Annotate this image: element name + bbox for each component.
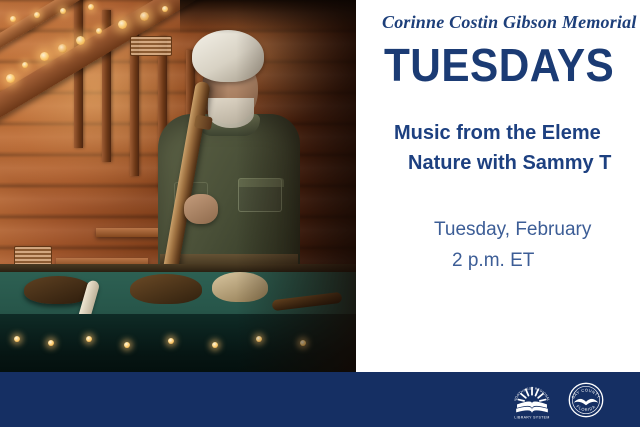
event-time-line-2: 2 p.m. ET xyxy=(452,245,640,276)
logo-group: NORTHWEST REGIONAL LIBRARY SYSTEM xyxy=(510,378,608,422)
svg-text:BAY COUNTY: BAY COUNTY xyxy=(570,387,601,399)
svg-text:LIBRARY SYSTEM: LIBRARY SYSTEM xyxy=(514,415,549,419)
series-name: Corinne Costin Gibson Memorial xyxy=(382,12,637,33)
page-title: TUESDAYS xyxy=(384,42,614,88)
player-hand-upper xyxy=(184,194,218,224)
event-title-line-1: Music from the Eleme xyxy=(394,122,601,144)
bay-county-florida-seal: BAY COUNTY FLORIDA xyxy=(564,378,608,422)
flute-band xyxy=(194,115,213,131)
northwest-regional-library-system-logo: NORTHWEST REGIONAL LIBRARY SYSTEM xyxy=(510,378,554,422)
event-title: Music from the Eleme Nature with Sammy T xyxy=(394,118,640,178)
footer-bar: NORTHWEST REGIONAL LIBRARY SYSTEM xyxy=(0,372,640,427)
event-details-panel: Corinne Costin Gibson Memorial TUESDAYS … xyxy=(356,0,640,372)
photo-vignette-top xyxy=(180,0,356,34)
event-photo xyxy=(0,0,356,372)
event-date-line-1: Tuesday, February xyxy=(434,219,591,240)
photo-vignette-right xyxy=(236,0,356,372)
event-promo-card: Corinne Costin Gibson Memorial TUESDAYS … xyxy=(0,0,640,427)
turtle-shell xyxy=(130,274,202,304)
event-title-line-2: Nature with Sammy T xyxy=(408,148,640,178)
event-date: Tuesday, February 2 p.m. ET xyxy=(434,214,640,276)
